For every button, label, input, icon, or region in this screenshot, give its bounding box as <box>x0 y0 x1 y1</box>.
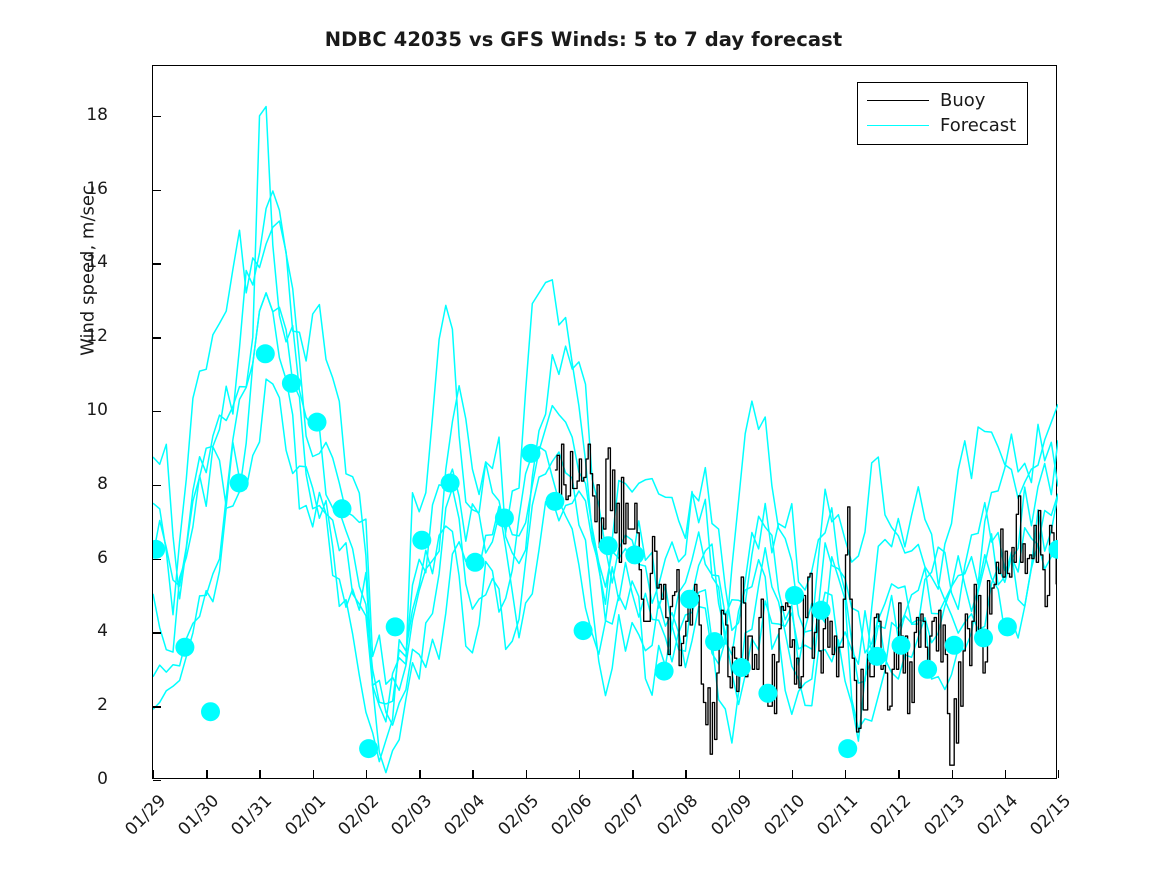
y-tick-mark <box>153 780 161 781</box>
chart-title: NDBC 42035 vs GFS Winds: 5 to 7 day fore… <box>0 28 1167 51</box>
x-tick-mark <box>259 770 260 778</box>
x-tick-mark <box>206 770 207 778</box>
x-tick-mark <box>472 770 473 778</box>
y-tick-mark <box>153 263 161 264</box>
buoy-daily-marker <box>333 499 352 518</box>
x-tick-label: 02/13 <box>915 791 969 845</box>
x-tick-label: 02/14 <box>968 791 1022 845</box>
x-tick-label: 02/11 <box>808 791 862 845</box>
x-tick-mark <box>632 770 633 778</box>
x-tick-label: 02/08 <box>649 791 703 845</box>
forecast-trace <box>153 293 1058 773</box>
buoy-daily-marker <box>466 553 485 572</box>
y-tick-mark <box>153 706 161 707</box>
x-tick-label: 01/29 <box>116 791 170 845</box>
x-tick-label: 02/03 <box>383 791 437 845</box>
y-tick-mark <box>153 411 161 412</box>
buoy-daily-marker <box>175 638 194 657</box>
series-canvas <box>153 66 1058 780</box>
legend-swatch <box>867 100 929 101</box>
forecast-trace <box>153 379 1058 761</box>
y-tick-label: 8 <box>48 474 108 494</box>
buoy-daily-marker <box>230 474 249 493</box>
y-tick-label: 4 <box>48 621 108 641</box>
x-tick-mark <box>898 770 899 778</box>
x-tick-label: 02/10 <box>755 791 809 845</box>
figure: NDBC 42035 vs GFS Winds: 5 to 7 day fore… <box>0 0 1167 875</box>
y-tick-label: 0 <box>48 769 108 789</box>
x-tick-mark <box>845 770 846 778</box>
y-tick-label: 16 <box>48 179 108 199</box>
legend-label: Forecast <box>940 115 1016 136</box>
buoy-daily-marker <box>495 509 514 528</box>
buoy-daily-marker <box>892 636 911 655</box>
buoy-step-trace <box>555 444 1056 765</box>
x-tick-mark <box>792 770 793 778</box>
buoy-daily-marker <box>705 632 724 651</box>
buoy-daily-marker <box>945 636 964 655</box>
x-tick-mark <box>952 770 953 778</box>
buoy-daily-marker <box>758 684 777 703</box>
buoy-daily-marker <box>574 621 593 640</box>
legend: BuoyForecast <box>857 82 1028 145</box>
buoy-daily-marker <box>599 536 618 555</box>
y-tick-mark <box>153 337 161 338</box>
x-tick-mark <box>739 770 740 778</box>
x-tick-mark <box>1005 770 1006 778</box>
x-tick-label: 02/15 <box>1021 791 1075 845</box>
x-tick-mark <box>313 770 314 778</box>
y-tick-mark <box>153 190 161 191</box>
x-tick-label: 02/05 <box>489 791 543 845</box>
x-tick-mark <box>579 770 580 778</box>
x-tick-label: 02/02 <box>329 791 383 845</box>
x-tick-mark <box>526 770 527 778</box>
y-tick-mark <box>153 632 161 633</box>
legend-swatch <box>867 125 929 126</box>
plot-area <box>152 65 1057 779</box>
buoy-daily-marker <box>201 702 220 721</box>
buoy-daily-marker <box>256 344 275 363</box>
buoy-daily-marker <box>998 617 1017 636</box>
y-tick-mark <box>153 485 161 486</box>
buoy-daily-marker <box>308 413 327 432</box>
x-tick-label: 01/30 <box>170 791 224 845</box>
y-tick-mark <box>153 116 161 117</box>
x-tick-label: 02/06 <box>542 791 596 845</box>
x-tick-label: 02/09 <box>702 791 756 845</box>
buoy-daily-marker <box>545 492 564 511</box>
x-tick-label: 02/01 <box>276 791 330 845</box>
x-tick-mark <box>685 770 686 778</box>
y-tick-label: 10 <box>48 400 108 420</box>
buoy-daily-marker <box>153 540 165 559</box>
x-tick-label: 02/04 <box>436 791 490 845</box>
buoy-daily-marker <box>441 474 460 493</box>
legend-item: Buoy <box>867 88 1016 113</box>
buoy-daily-marker <box>974 628 993 647</box>
buoy-daily-marker <box>655 662 674 681</box>
plot-canvas <box>153 66 1058 780</box>
buoy-daily-marker <box>868 647 887 666</box>
x-tick-mark <box>419 770 420 778</box>
y-tick-label: 2 <box>48 695 108 715</box>
legend-label: Buoy <box>940 90 985 111</box>
x-tick-label: 02/07 <box>596 791 650 845</box>
x-tick-mark <box>366 770 367 778</box>
y-tick-label: 14 <box>48 252 108 272</box>
legend-item: Forecast <box>867 113 1016 138</box>
buoy-daily-marker <box>522 444 541 463</box>
y-tick-mark <box>153 559 161 560</box>
buoy-daily-marker <box>732 658 751 677</box>
buoy-daily-marker <box>680 590 699 609</box>
buoy-daily-marker <box>625 545 644 564</box>
y-tick-label: 6 <box>48 548 108 568</box>
buoy-daily-marker <box>282 374 301 393</box>
y-tick-label: 12 <box>48 326 108 346</box>
x-tick-label: 01/31 <box>223 791 277 845</box>
buoy-daily-marker <box>412 531 431 550</box>
x-tick-label: 02/12 <box>862 791 916 845</box>
buoy-daily-marker <box>838 739 857 758</box>
buoy-daily-marker <box>785 586 804 605</box>
x-tick-mark <box>153 770 154 778</box>
buoy-daily-marker <box>386 617 405 636</box>
buoy-daily-marker <box>918 660 937 679</box>
y-tick-label: 18 <box>48 105 108 125</box>
buoy-daily-marker <box>812 601 831 620</box>
buoy-daily-marker <box>359 739 378 758</box>
x-tick-mark <box>1058 770 1059 778</box>
